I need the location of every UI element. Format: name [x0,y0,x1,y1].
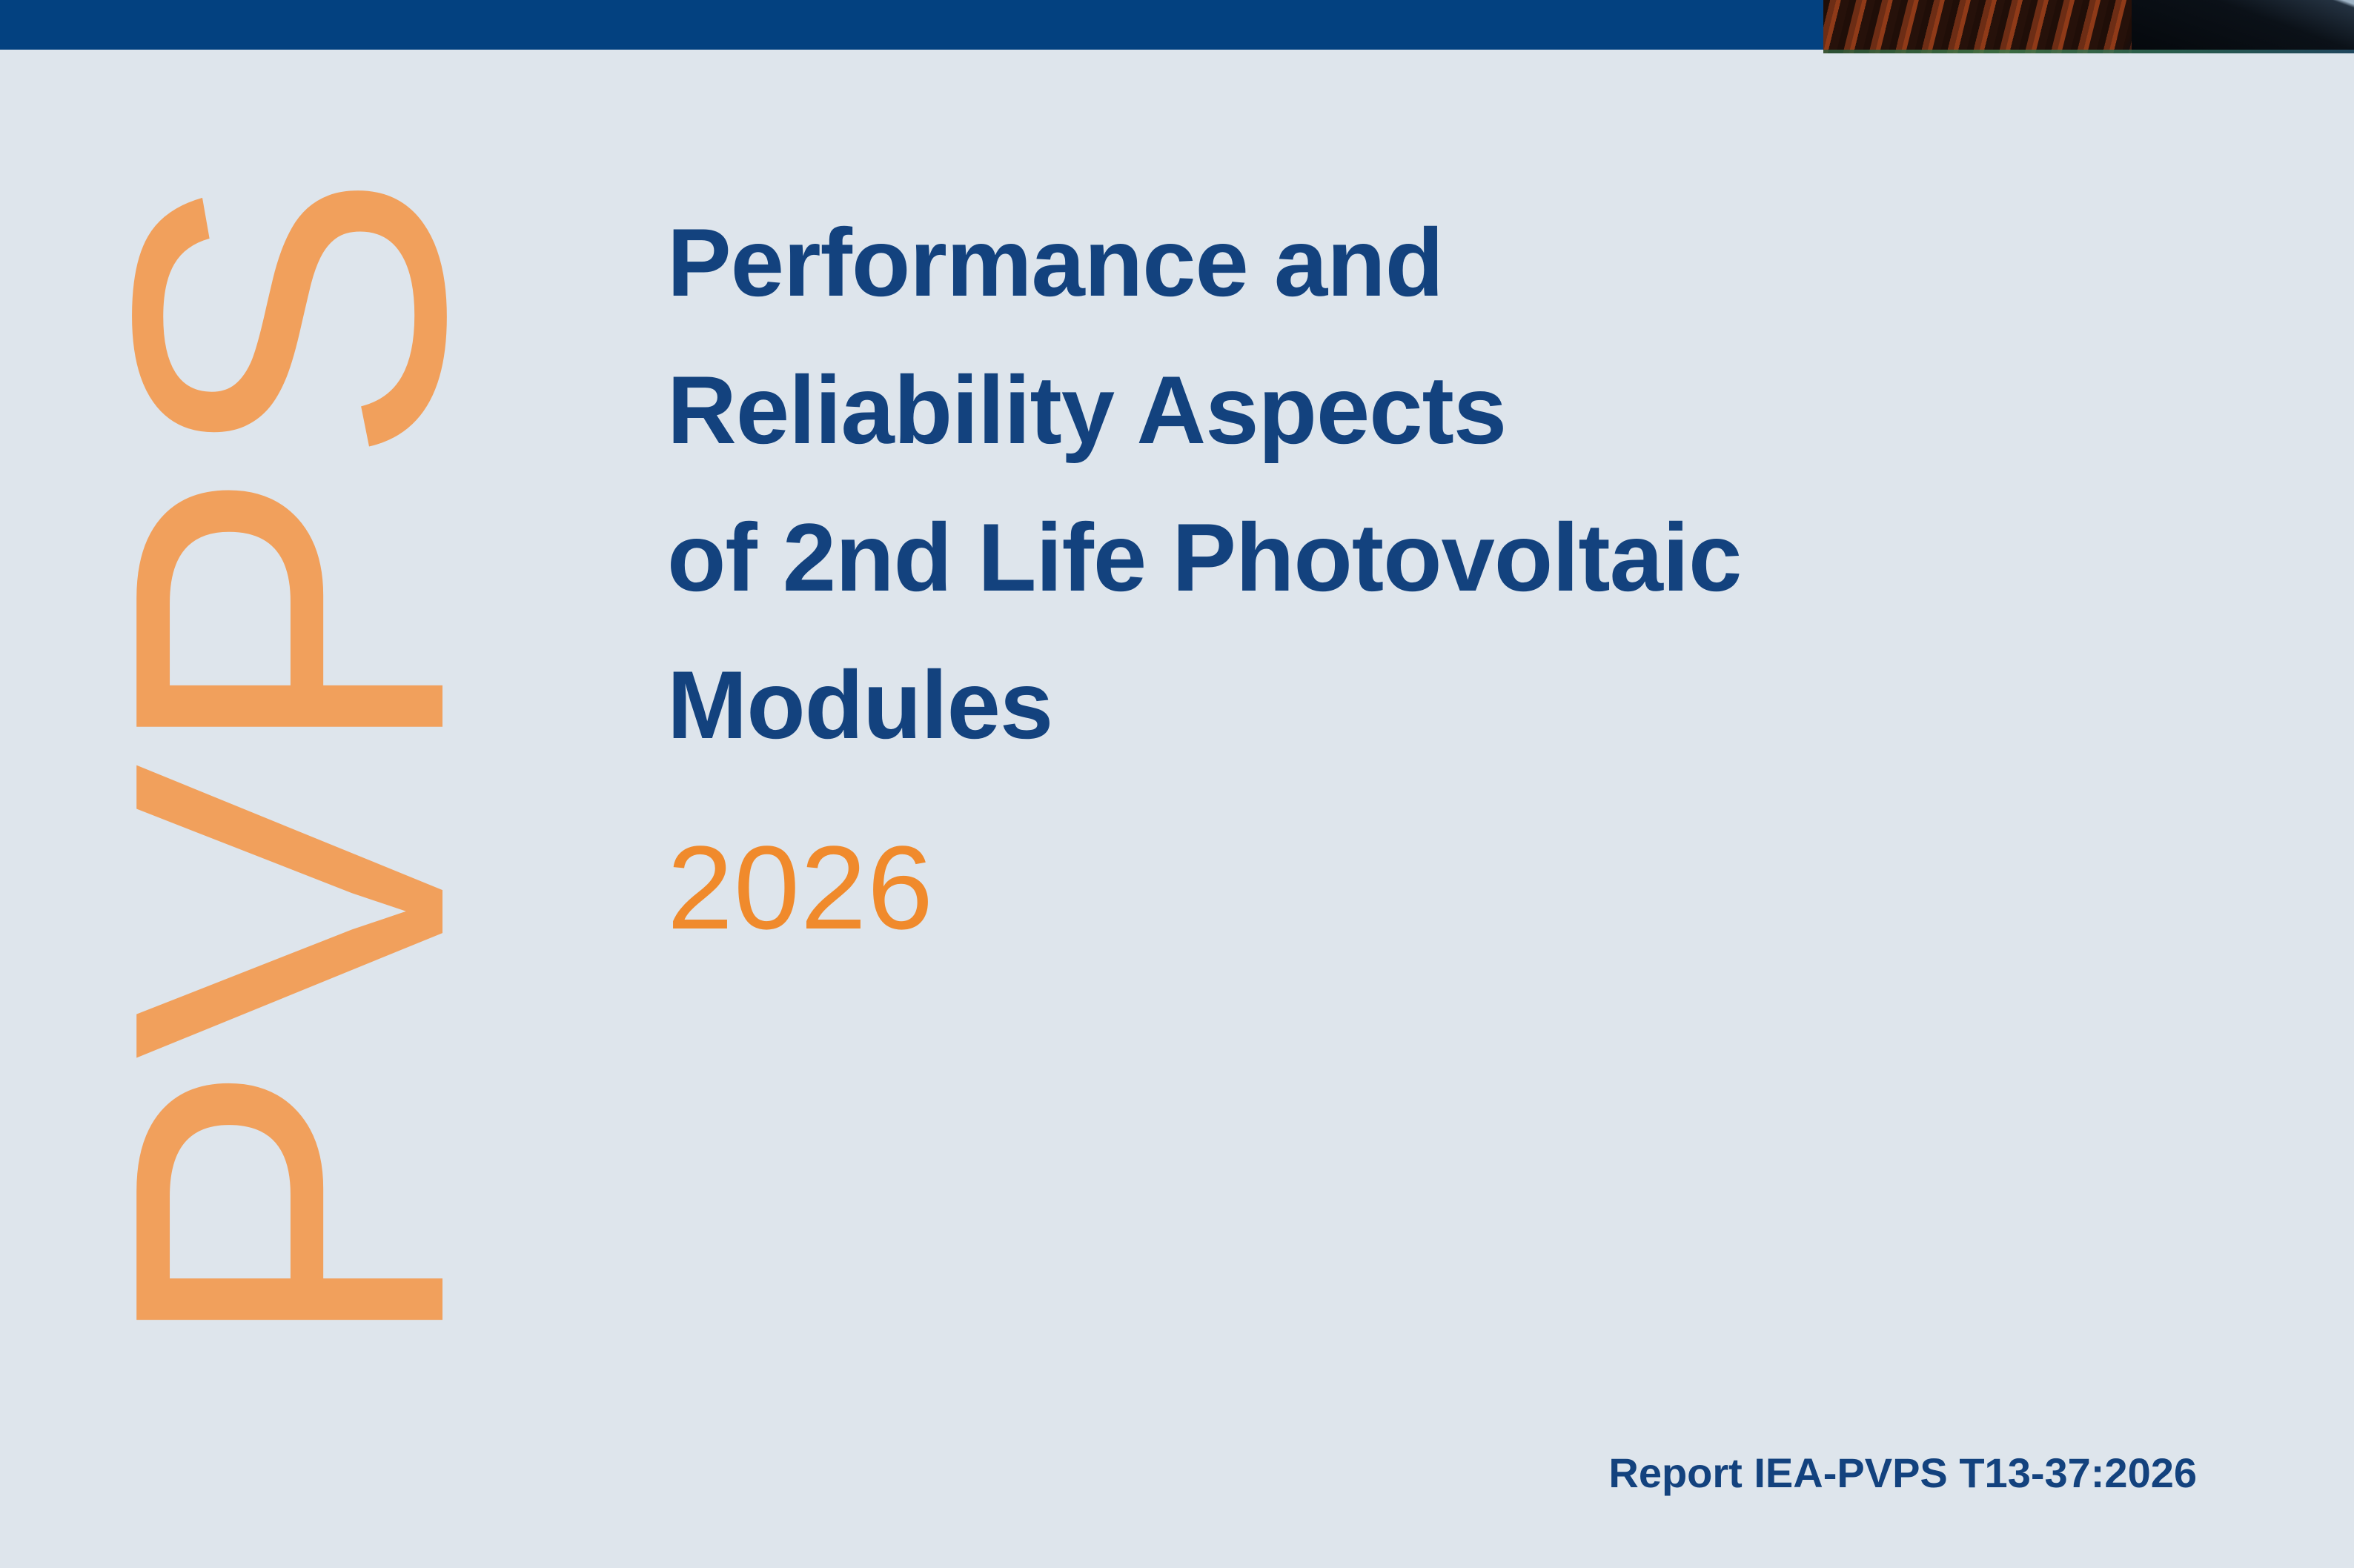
pvps-logo-text: PVPS [67,170,511,1357]
title-line-3: of 2nd Life Photovoltaic [667,484,2261,631]
top-banner-bar: y y [0,0,1823,50]
publication-year: 2026 [667,828,934,947]
title-line-4: Modules [667,631,2261,779]
foliage-image-region [1823,50,2354,53]
report-identifier: Report IEA-PVPS T13-37:2026 [1608,1449,2197,1497]
title-line-2: Reliability Aspects [667,336,2261,484]
report-cover-page: y y PVPS Performance and Reliability Asp… [0,0,2354,1568]
cover-photograph [1823,0,2354,53]
clipped-banner-text: y y [0,0,1823,16]
pvps-logo: PVPS [96,148,482,1378]
solar-panel-image-region [2132,0,2354,53]
title-line-1: Performance and [667,189,2261,336]
page-title: Performance and Reliability Aspects of 2… [667,189,2261,779]
